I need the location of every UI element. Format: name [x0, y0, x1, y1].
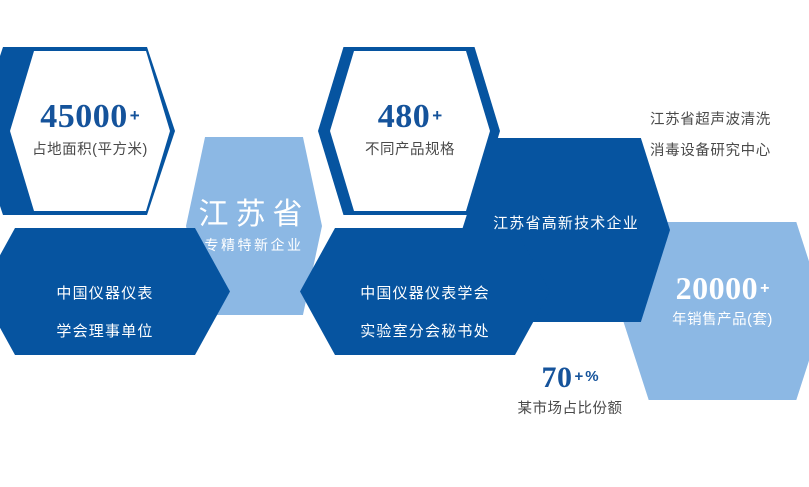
stat-market-share-unit: % [585, 368, 598, 385]
stat-specs: 480+ 不同产品规格 [330, 100, 490, 158]
infographic-canvas: 江苏省 专精特新企业 45000+ 占地面积(平方米) 480+ 不同产品规格 … [0, 0, 809, 487]
society-council-line1: 中国仪器仪表 [0, 275, 230, 313]
society-council-line2: 学会理事单位 [0, 313, 230, 351]
stat-area-caption: 占地面积(平方米) [10, 143, 170, 158]
lab-branch-line2: 实验室分会秘书处 [300, 313, 550, 351]
research-center-text: 江苏省超声波清洗 消毒设备研究中心 [650, 105, 771, 167]
stat-area: 45000+ 占地面积(平方米) [10, 100, 170, 158]
stat-annual-sales-caption: 年销售产品(套) [620, 313, 809, 328]
lab-branch-line1: 中国仪器仪表学会 [300, 275, 550, 313]
research-center-line2: 消毒设备研究中心 [650, 136, 771, 167]
brand-text-group: 江苏省 专精特新企业 [186, 200, 322, 252]
stat-market-share-caption: 某市场占比份额 [480, 402, 660, 417]
research-center-line1: 江苏省超声波清洗 [650, 105, 771, 136]
stat-specs-caption: 不同产品规格 [330, 143, 490, 158]
stat-annual-sales: 20000+ 年销售产品(套) [620, 272, 809, 328]
brand-title: 江苏省 [186, 200, 322, 230]
stat-area-superscript: + [130, 106, 140, 125]
stat-annual-sales-number: 20000 [676, 272, 759, 304]
stat-annual-sales-superscript: + [760, 280, 769, 297]
stat-market-share-superscript: + [574, 368, 583, 385]
stat-area-number: 45000 [40, 100, 128, 134]
stat-specs-number: 480 [378, 100, 431, 134]
stat-specs-superscript: + [432, 106, 442, 125]
lab-branch-text: 中国仪器仪表学会 实验室分会秘书处 [300, 275, 550, 351]
stat-market-share-number: 70 [541, 363, 572, 393]
society-council-text: 中国仪器仪表 学会理事单位 [0, 275, 230, 351]
hightech-label: 江苏省高新技术企业 [462, 206, 670, 242]
stat-market-share: 70+% 某市场占比份额 [480, 363, 660, 417]
